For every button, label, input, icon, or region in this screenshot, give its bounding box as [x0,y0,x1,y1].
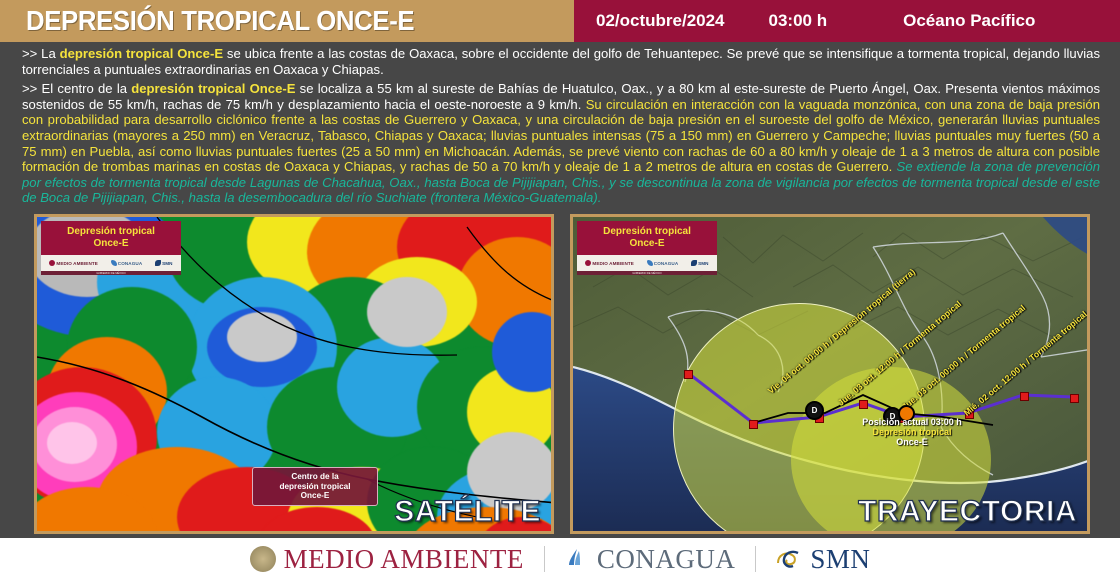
badge-line2: Once-E [45,238,177,250]
swirl-icon [691,260,697,266]
badge-footer-text: GOBIERNO DE MÉXICO [632,272,661,275]
badge-footer-strip: GOBIERNO DE MÉXICO [577,271,717,275]
track-point [1020,392,1029,401]
footer-org-1: MEDIO AMBIENTE [284,544,524,575]
footer-org-3: SMN [810,544,870,575]
center-callout-line2: depresión tropical [256,482,374,492]
track-point [684,370,693,379]
current-position-line1: Posición actual 03:00 h [837,417,987,427]
footer-conagua: CONAGUA [565,544,736,575]
trajectory-caption: TRAYECTORIA [858,495,1077,529]
badge-logo-medioambiente: MEDIO AMBIENTE [49,260,98,266]
satellite-center-callout: Centro de la depresión tropical Once-E [252,467,378,506]
conagua-drop-icon [565,547,589,571]
center-callout-line3: Once-E [256,491,374,501]
badge-logo-smn: SMN [155,260,173,266]
eagle-seal-icon [585,260,591,266]
track-point [749,420,758,429]
header-meta: 02/octubre/2024 03:00 h Océano Pacífico [574,0,1120,42]
badge-line2: Once-E [581,238,713,250]
p2-lead: >> El centro de la [22,81,131,96]
header-basin: Océano Pacífico [903,11,1035,31]
p2-highlight: depresión tropical Once-E [131,81,295,96]
swirl-icon [155,260,161,266]
track-point [859,400,868,409]
badge-line1: Depresión tropical [581,226,713,238]
badge-logo-medioambiente: MEDIO AMBIENTE [585,260,634,266]
badge-title-box: Depresión tropical Once-E [41,221,181,255]
panel-badge-trajectory: Depresión tropical Once-E MEDIO AMBIENTE… [577,221,717,275]
header-date: 02/octubre/2024 [596,11,725,31]
footer-smn: SMN [776,544,870,575]
page-title: DEPRESIÓN TROPICAL ONCE-E [26,5,414,37]
badge-logo-smn: SMN [691,260,709,266]
bulletin-paragraph-2: >> El centro de la depresión tropical On… [22,81,1100,206]
satellite-caption: SATÉLITE [394,495,541,529]
water-drop-icon [111,260,117,266]
panel-badge-satellite: Depresión tropical Once-E MEDIO AMBIENTE… [41,221,181,275]
mexico-eagle-seal-icon [250,546,276,572]
p1-highlight: depresión tropical Once-E [60,46,223,61]
badge-footer-strip: GOBIERNO DE MÉXICO [41,271,181,275]
center-callout-line1: Centro de la [256,472,374,482]
footer-divider [544,546,545,572]
current-position-line2: Depresión tropical [837,427,987,437]
footer-bar: MEDIO AMBIENTE CONAGUA SMN [0,538,1120,580]
forecast-marker-depression: D [805,401,824,420]
badge-line1: Depresión tropical [45,226,177,238]
badge-logo-row: MEDIO AMBIENTE CONAGUA SMN [41,255,181,271]
bulletin-paragraph-1: >> La depresión tropical Once-E se ubica… [22,46,1100,77]
badge-footer-text: GOBIERNO DE MÉXICO [96,272,125,275]
current-position-line3: Once-E [837,437,987,447]
satellite-panel[interactable]: Centro de la depresión tropical Once-E D… [34,214,554,534]
badge-title-box: Depresión tropical Once-E [577,221,717,255]
eagle-seal-icon [49,260,55,266]
water-drop-icon [647,260,653,266]
header-title-block: DEPRESIÓN TROPICAL ONCE-E [0,0,574,42]
smn-swirl-icon [776,547,802,571]
bulletin-sheet: DEPRESIÓN TROPICAL ONCE-E 02/octubre/202… [0,0,1120,580]
p1-lead: >> La [22,46,60,61]
footer-org-2: CONAGUA [597,544,736,575]
header-bar: DEPRESIÓN TROPICAL ONCE-E 02/octubre/202… [0,0,1120,42]
header-time: 03:00 h [769,11,828,31]
track-point [1070,394,1079,403]
badge-logo-conagua: CONAGUA [647,260,678,266]
footer-medioambiente: MEDIO AMBIENTE [250,544,524,575]
bulletin-text: >> La depresión tropical Once-E se ubica… [22,46,1100,212]
badge-logo-conagua: CONAGUA [111,260,142,266]
footer-divider [755,546,756,572]
current-position-callout: Posición actual 03:00 h Depresión tropic… [837,417,987,447]
trajectory-panel[interactable]: D D Vie. 04 oct. 00:00 h / Depresión tro… [570,214,1090,534]
badge-logo-row: MEDIO AMBIENTE CONAGUA SMN [577,255,717,271]
